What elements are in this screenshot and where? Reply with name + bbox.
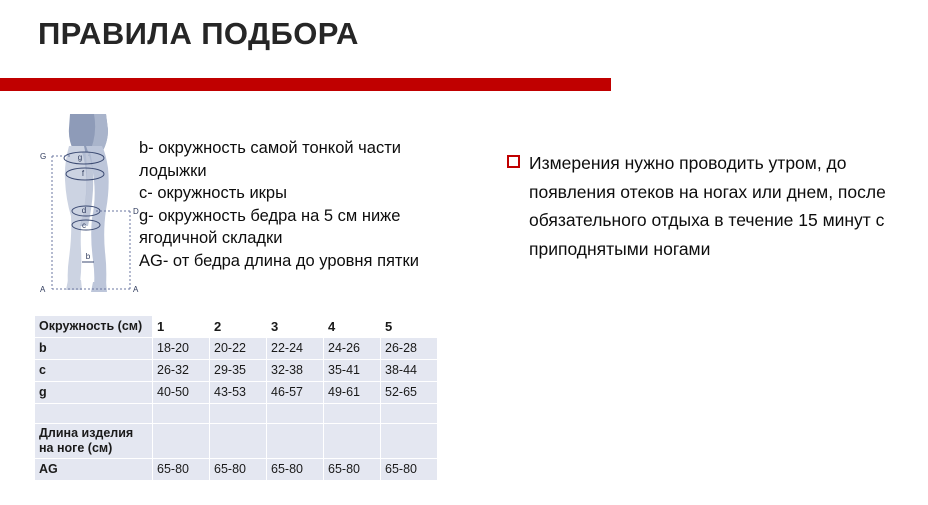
cell-c-4: 35-41: [324, 360, 381, 382]
section-cell-2: [210, 424, 267, 459]
cell-ag-2: 65-80: [210, 459, 267, 481]
table-row: AG 65-80 65-80 65-80 65-80 65-80: [35, 459, 437, 481]
section-label-line1: Длина изделия: [39, 426, 152, 441]
row-label-c: c: [35, 360, 153, 382]
cell-ag-4: 65-80: [324, 459, 381, 481]
spacer-label: [35, 404, 153, 424]
cell-g-3: 46-57: [267, 382, 324, 404]
cell-g-4: 49-61: [324, 382, 381, 404]
table-header-row: Окружность (см) 1 2 3 4 5: [35, 316, 437, 338]
cell-c-2: 29-35: [210, 360, 267, 382]
table-row: b 18-20 20-22 22-24 24-26 26-28: [35, 338, 437, 360]
table-spacer-row: [35, 404, 437, 424]
legend-line-ag: AG- от бедра длина до уровня пятки: [139, 250, 434, 273]
table-header-label: Окружность (см): [35, 316, 153, 338]
svg-text:b: b: [86, 252, 91, 261]
svg-text:c: c: [82, 221, 86, 230]
svg-text:g: g: [78, 153, 82, 162]
section-cell-3: [267, 424, 324, 459]
spacer-cell-4: [324, 404, 381, 424]
cell-c-1: 26-32: [153, 360, 210, 382]
svg-text:d: d: [82, 206, 86, 215]
table-row: c 26-32 29-35 32-38 35-41 38-44: [35, 360, 437, 382]
cell-ag-3: 65-80: [267, 459, 324, 481]
section-cell-5: [381, 424, 438, 459]
measurement-advice-text: Измерения нужно проводить утром, до появ…: [529, 149, 907, 263]
section-cell-4: [324, 424, 381, 459]
table-header-size-5: 5: [381, 316, 438, 338]
section-label-line2: на ноге (см): [39, 441, 152, 456]
leg-measurement-diagram: g f d c b G D A A: [36, 112, 144, 298]
table-section-row: Длина изделия на ноге (см): [35, 424, 437, 459]
cell-b-4: 24-26: [324, 338, 381, 360]
spacer-cell-3: [267, 404, 324, 424]
measurement-legend: b- окружность самой тонкой части лодыжки…: [139, 137, 434, 273]
cell-g-5: 52-65: [381, 382, 438, 404]
section-label-length: Длина изделия на ноге (см): [35, 424, 153, 459]
table-header-size-2: 2: [210, 316, 267, 338]
accent-divider-bar: [0, 78, 611, 91]
square-bullet-icon: [507, 155, 520, 168]
svg-text:G: G: [40, 152, 46, 161]
row-label-g: g: [35, 382, 153, 404]
table-row: g 40-50 43-53 46-57 49-61 52-65: [35, 382, 437, 404]
table-header-size-1: 1: [153, 316, 210, 338]
size-chart-table: Окружность (см) 1 2 3 4 5 b 18-20 20-22 …: [35, 316, 437, 480]
cell-ag-5: 65-80: [381, 459, 438, 481]
cell-g-2: 43-53: [210, 382, 267, 404]
spacer-cell-5: [381, 404, 438, 424]
legend-line-b: b- окружность самой тонкой части лодыжки: [139, 137, 434, 182]
page-title: ПРАВИЛА ПОДБОРА: [38, 17, 359, 51]
cell-c-3: 32-38: [267, 360, 324, 382]
row-label-b: b: [35, 338, 153, 360]
cell-b-2: 20-22: [210, 338, 267, 360]
table-header-size-4: 4: [324, 316, 381, 338]
measurement-advice-bullet: Измерения нужно проводить утром, до появ…: [507, 149, 907, 263]
slide-root: ПРАВИЛА ПОДБОРА: [0, 0, 928, 505]
legend-line-g: g- окружность бедра на 5 см ниже ягодичн…: [139, 205, 434, 250]
cell-g-1: 40-50: [153, 382, 210, 404]
cell-b-5: 26-28: [381, 338, 438, 360]
svg-text:A: A: [133, 285, 139, 294]
cell-b-3: 22-24: [267, 338, 324, 360]
row-label-ag: AG: [35, 459, 153, 481]
section-cell-1: [153, 424, 210, 459]
cell-ag-1: 65-80: [153, 459, 210, 481]
svg-text:A: A: [40, 285, 46, 294]
cell-b-1: 18-20: [153, 338, 210, 360]
spacer-cell-2: [210, 404, 267, 424]
right-foot-shape: [91, 282, 107, 292]
cell-c-5: 38-44: [381, 360, 438, 382]
spacer-cell-1: [153, 404, 210, 424]
legend-line-c: c- окружность икры: [139, 182, 434, 205]
table-header-size-3: 3: [267, 316, 324, 338]
